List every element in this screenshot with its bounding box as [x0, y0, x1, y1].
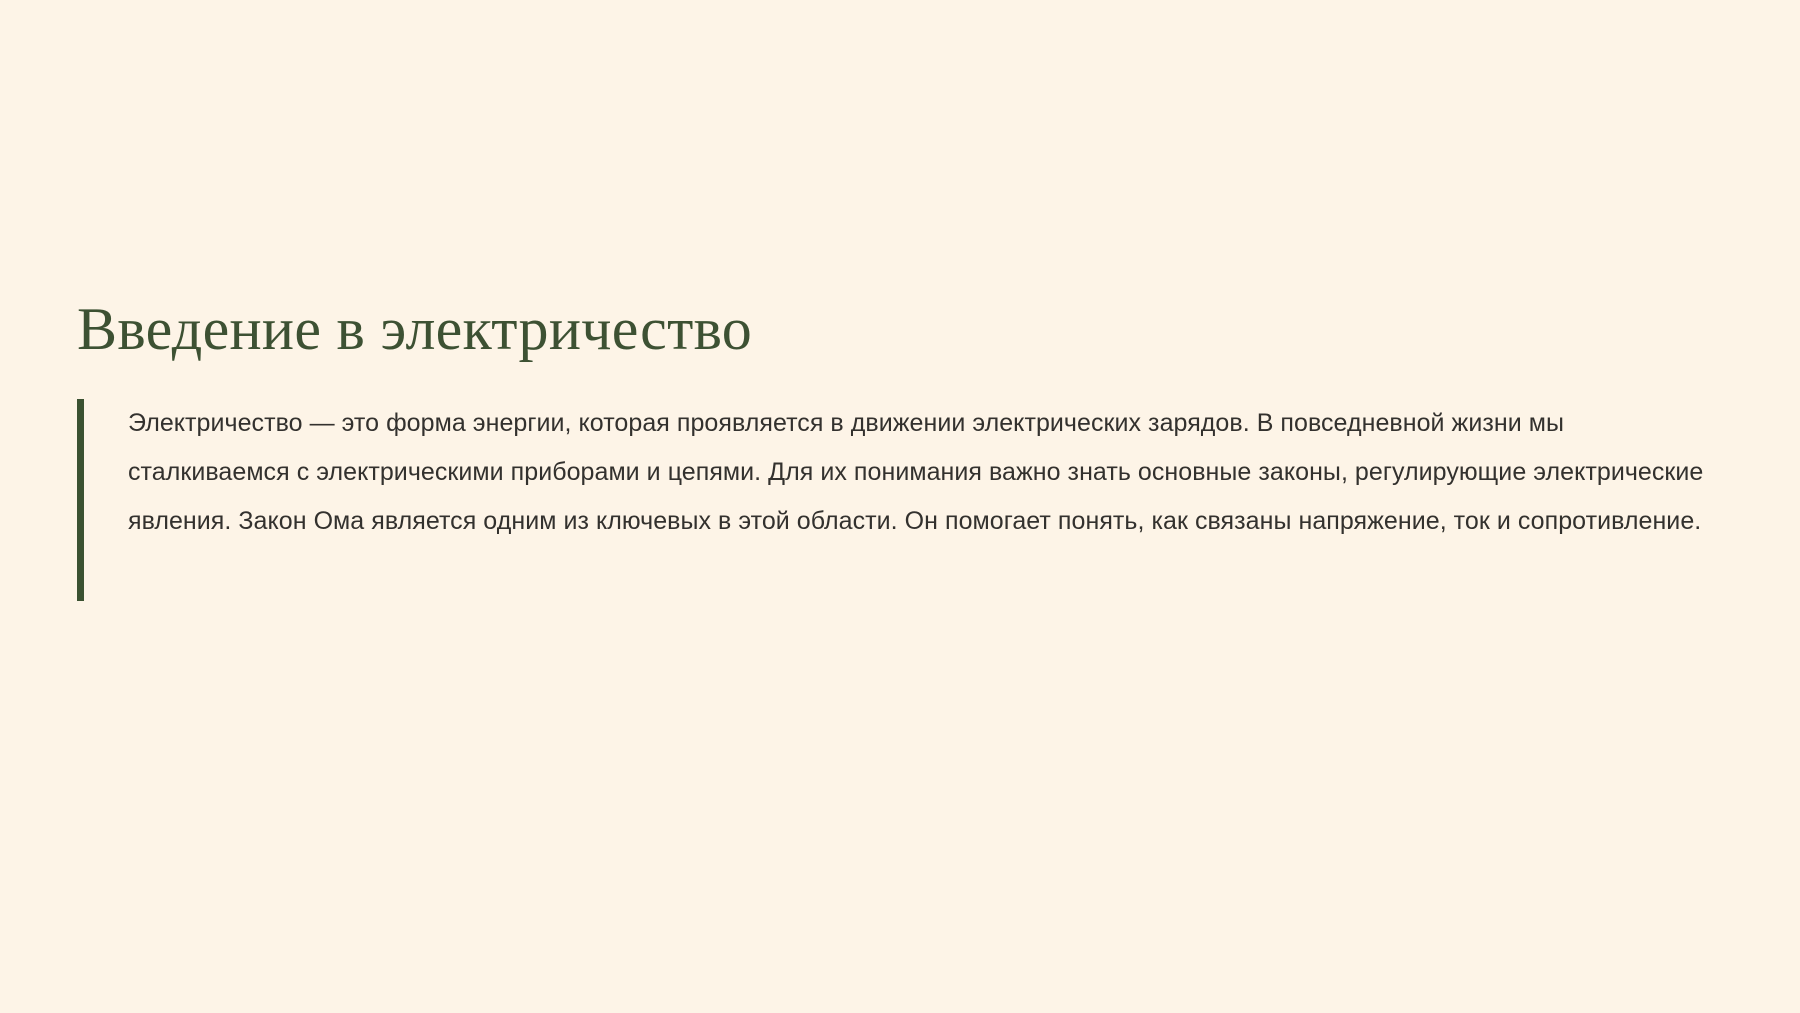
page-title: Введение в электричество: [77, 296, 1737, 363]
intro-paragraph: Электричество — это форма энергии, котор…: [128, 399, 1728, 546]
intro-callout: Электричество — это форма энергии, котор…: [77, 399, 1737, 546]
document-page: Введение в электричество Электричество —…: [0, 0, 1800, 1013]
content-column: Введение в электричество Электричество —…: [77, 296, 1737, 546]
callout-accent-bar: [77, 399, 84, 601]
